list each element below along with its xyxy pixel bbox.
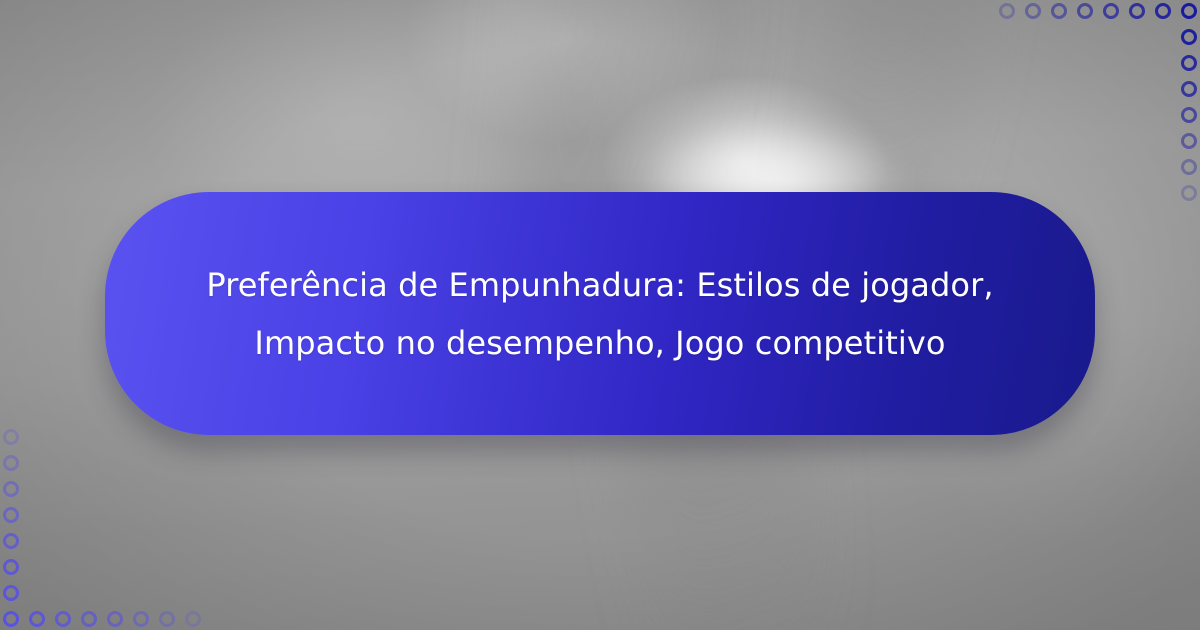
ornament-dot — [1181, 133, 1197, 149]
ornament-dot — [1181, 81, 1197, 97]
ornament-dot — [1181, 107, 1197, 123]
poster-canvas: Preferência de Empunhadura: Estilos de j… — [0, 0, 1200, 630]
ornament-dot — [3, 559, 19, 575]
ornament-dot — [3, 507, 19, 523]
ornament-dot — [1181, 159, 1197, 175]
ornament-dot — [1129, 3, 1145, 19]
ornament-dot — [1103, 3, 1119, 19]
ornament-dot — [29, 611, 45, 627]
page-title: Preferência de Empunhadura: Estilos de j… — [170, 256, 1030, 372]
dot-grid-top-right — [986, 0, 1200, 214]
dot-grid-bottom-left — [0, 416, 214, 630]
ornament-dot — [1155, 3, 1171, 19]
ornament-dot — [159, 611, 175, 627]
ornament-dot — [3, 429, 19, 445]
ornament-dot — [185, 611, 201, 627]
ornament-dot — [1181, 3, 1197, 19]
ornament-dot — [1181, 29, 1197, 45]
page-title-line-2: Impacto no desempenho, Jogo competitivo — [254, 324, 945, 362]
ornament-dot — [55, 611, 71, 627]
ornament-dot — [81, 611, 97, 627]
ornament-dot — [3, 481, 19, 497]
ornament-dot — [3, 533, 19, 549]
ornament-dot — [999, 3, 1015, 19]
ornament-dot — [1025, 3, 1041, 19]
page-title-line-1: Preferência de Empunhadura: Estilos de j… — [206, 266, 993, 304]
ornament-dot — [3, 455, 19, 471]
ornament-dot — [1077, 3, 1093, 19]
ornament-dot — [1181, 55, 1197, 71]
ornament-dot — [1181, 185, 1197, 201]
ornament-dot — [107, 611, 123, 627]
ornament-dot — [133, 611, 149, 627]
ornament-dot — [3, 585, 19, 601]
title-card: Preferência de Empunhadura: Estilos de j… — [105, 192, 1095, 435]
ornament-dot — [3, 611, 19, 627]
ornament-dot — [1051, 3, 1067, 19]
